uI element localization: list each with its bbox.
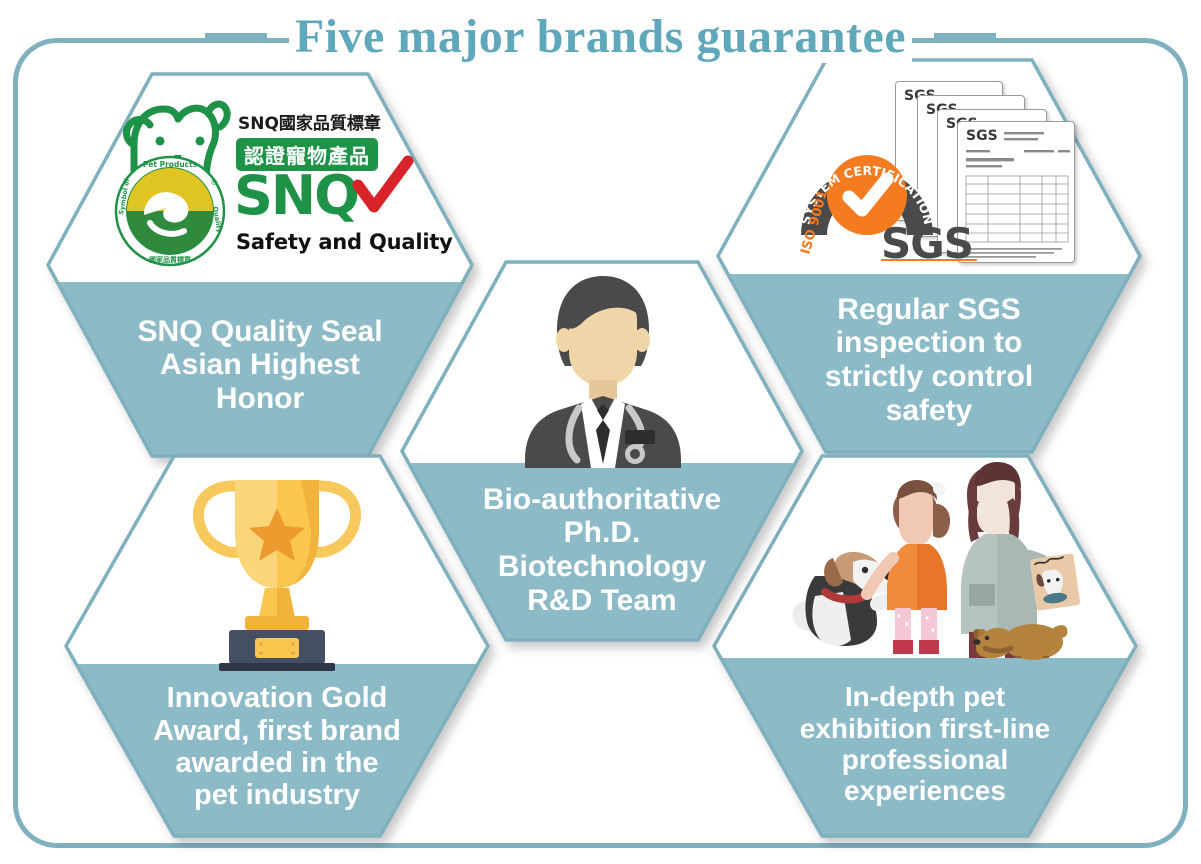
hex-label-snq-quality-seal: SNQ Quality Seal Asian Highest Honor [74,286,446,444]
infographic-canvas: Five major brands guarantee [0,0,1201,864]
hex-cell-bio-authoritative-team[interactable]: Bio-authoritative Ph.D. Biotechnology R&… [398,258,806,644]
snq-tagline: Safety and Quality [236,230,453,254]
page-title: Five major brands guarantee [289,11,912,63]
svg-text:®: ® [210,178,218,187]
hex-label-innovation-gold-award: Innovation Gold Award, first brand award… [84,666,470,828]
hex-label-pet-exhibition-experience: In-depth pet exhibition first-line profe… [722,660,1128,828]
sgs-certificate: SGS SGS SGS SGS [776,68,1094,268]
svg-text:Pet Products: Pet Products [143,160,198,169]
girl-figure [867,480,950,654]
doctor-icon [494,270,710,466]
svg-text:國家品質標章: 國家品質標章 [149,255,191,264]
title-dash-left [205,33,267,41]
trophy-icon [174,462,380,670]
snq-wordmark: SNQ [234,169,358,223]
title-dash-right [934,33,996,41]
snq-logo: Pet Products Symbol of Quality 國家品質標章 ® … [102,92,422,272]
title-bar: Five major brands guarantee [0,0,1201,74]
sgs-underline [881,259,977,261]
sgs-document-4: SGS [957,121,1075,263]
snq-chinese-title: SNQ國家品質標章 [238,109,381,134]
hex-label-bio-authoritative-team: Bio-authoritative Ph.D. Biotechnology R&… [420,464,784,636]
pet-exhibition-illustration [770,458,1082,658]
snq-check-mark [352,159,414,221]
